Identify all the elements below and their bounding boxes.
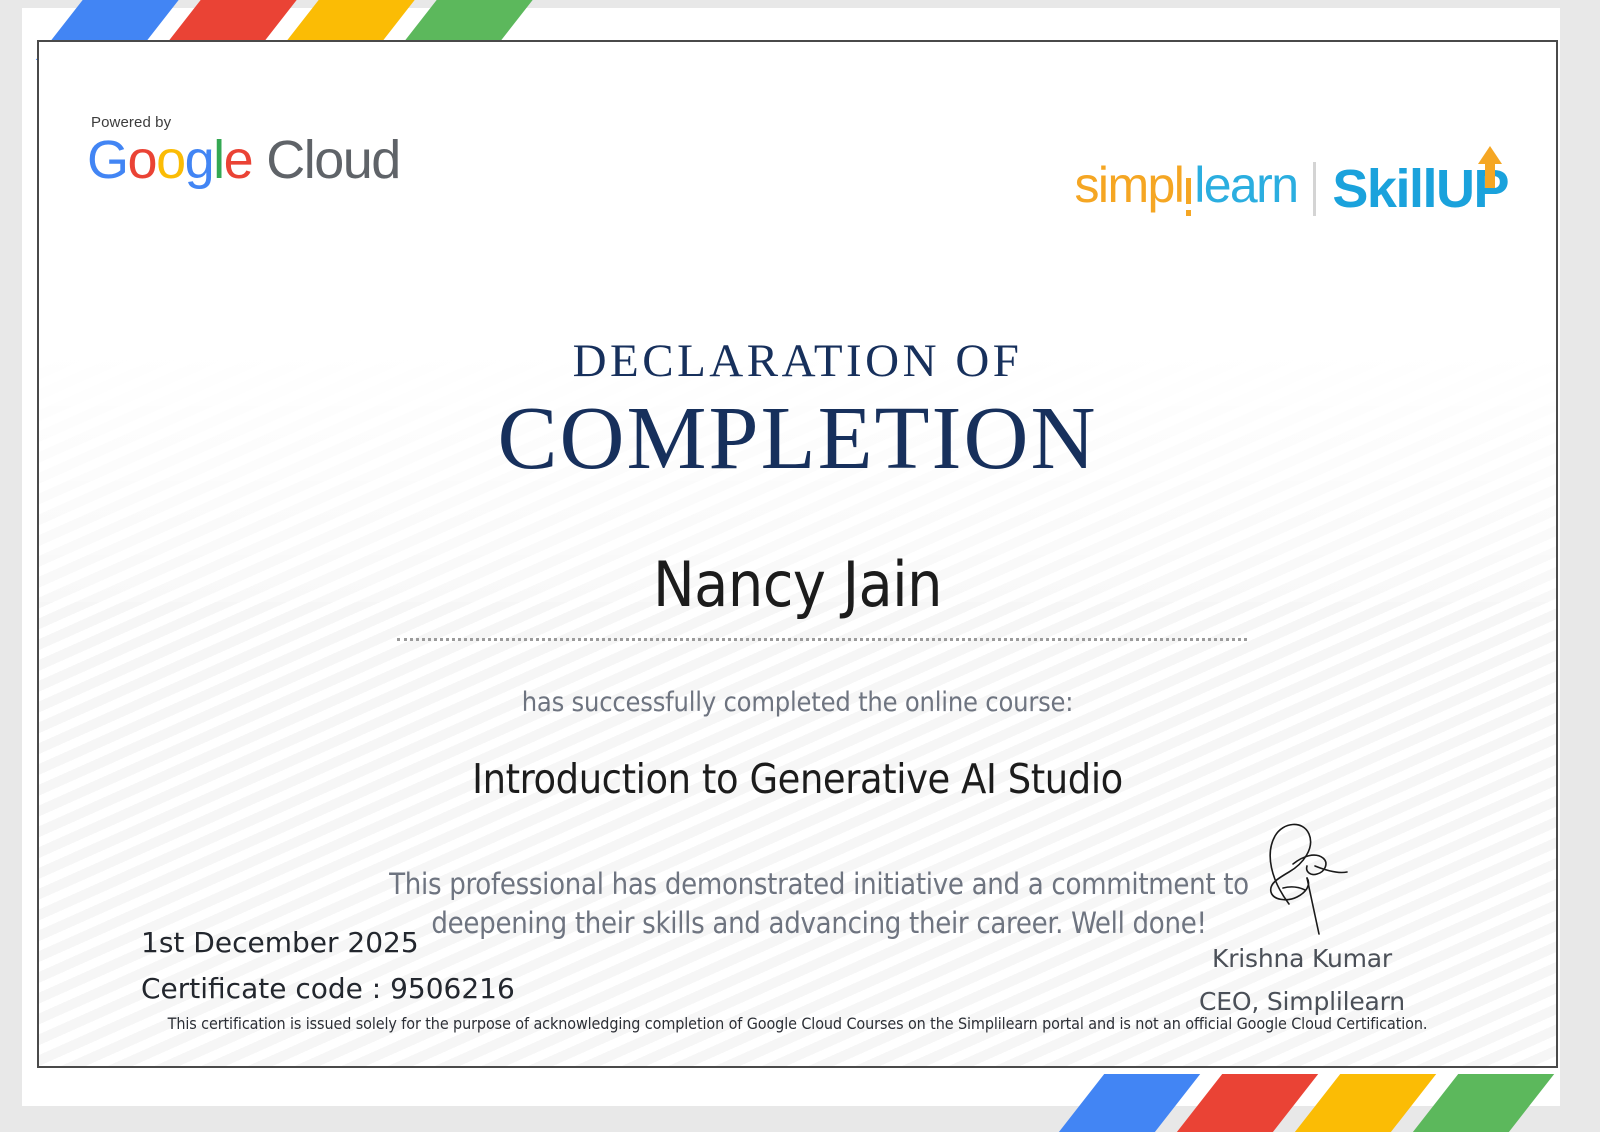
recipient-name: Nancy Jain xyxy=(39,551,1556,619)
google-letter-o1: o xyxy=(128,130,157,190)
outer-margin-left xyxy=(0,0,22,1132)
signatory-name: Krishna Kumar xyxy=(1152,944,1452,973)
google-letter-g2: g xyxy=(185,130,214,190)
simplilearn-skillup-logo: simpllearn SkillUP xyxy=(1075,162,1508,216)
outer-margin-right xyxy=(1560,0,1600,1132)
google-cloud-wordmark: GoogleCloud xyxy=(87,133,400,187)
certificate-content: Powered by GoogleCloud simpllearn SkillU… xyxy=(39,42,1556,1066)
google-letter-g1: G xyxy=(87,130,128,190)
recipient-name-rule xyxy=(397,638,1247,641)
signature-icon xyxy=(1227,792,1377,942)
completion-subline: has successfully completed the online co… xyxy=(39,687,1556,718)
completion-heading: COMPLETION xyxy=(39,389,1556,488)
powered-by-label: Powered by xyxy=(91,114,400,131)
issue-date: 1st December 2025 xyxy=(141,920,515,966)
disclaimer-text: This certification is issued solely for … xyxy=(39,1014,1556,1033)
google-letter-o2: o xyxy=(156,130,185,190)
signatory-role: CEO, Simplilearn xyxy=(1152,987,1452,1016)
certificate-page: Powered by GoogleCloud simpllearn SkillU… xyxy=(0,0,1600,1132)
declaration-heading: DECLARATION OF xyxy=(39,338,1556,385)
skillup-word-u: U xyxy=(1436,159,1474,219)
outer-margin-top xyxy=(0,0,1600,8)
skillup-wordmark: SkillUP xyxy=(1332,162,1508,216)
google-letter-e: e xyxy=(224,130,253,190)
simplilearn-wordmark: simpllearn xyxy=(1075,160,1298,210)
certificate-frame: Powered by GoogleCloud simpllearn SkillU… xyxy=(37,40,1558,1068)
certificate-code: Certificate code : 9506216 xyxy=(141,966,515,1012)
simplilearn-part-simpl: simpl xyxy=(1075,157,1184,213)
certificate-meta: 1st December 2025 Certificate code : 950… xyxy=(141,920,515,1012)
outer-margin-bottom xyxy=(0,1106,1600,1132)
google-cloud-word: Cloud xyxy=(266,130,400,190)
simplilearn-part-learn: learn xyxy=(1194,157,1297,213)
google-cloud-logo: Powered by GoogleCloud xyxy=(87,114,400,187)
google-letter-l: l xyxy=(213,130,224,190)
signature-block: Krishna Kumar CEO, Simplilearn xyxy=(1152,792,1452,1016)
logo-divider xyxy=(1313,162,1316,216)
skillup-word-skill: Skill xyxy=(1332,159,1436,219)
